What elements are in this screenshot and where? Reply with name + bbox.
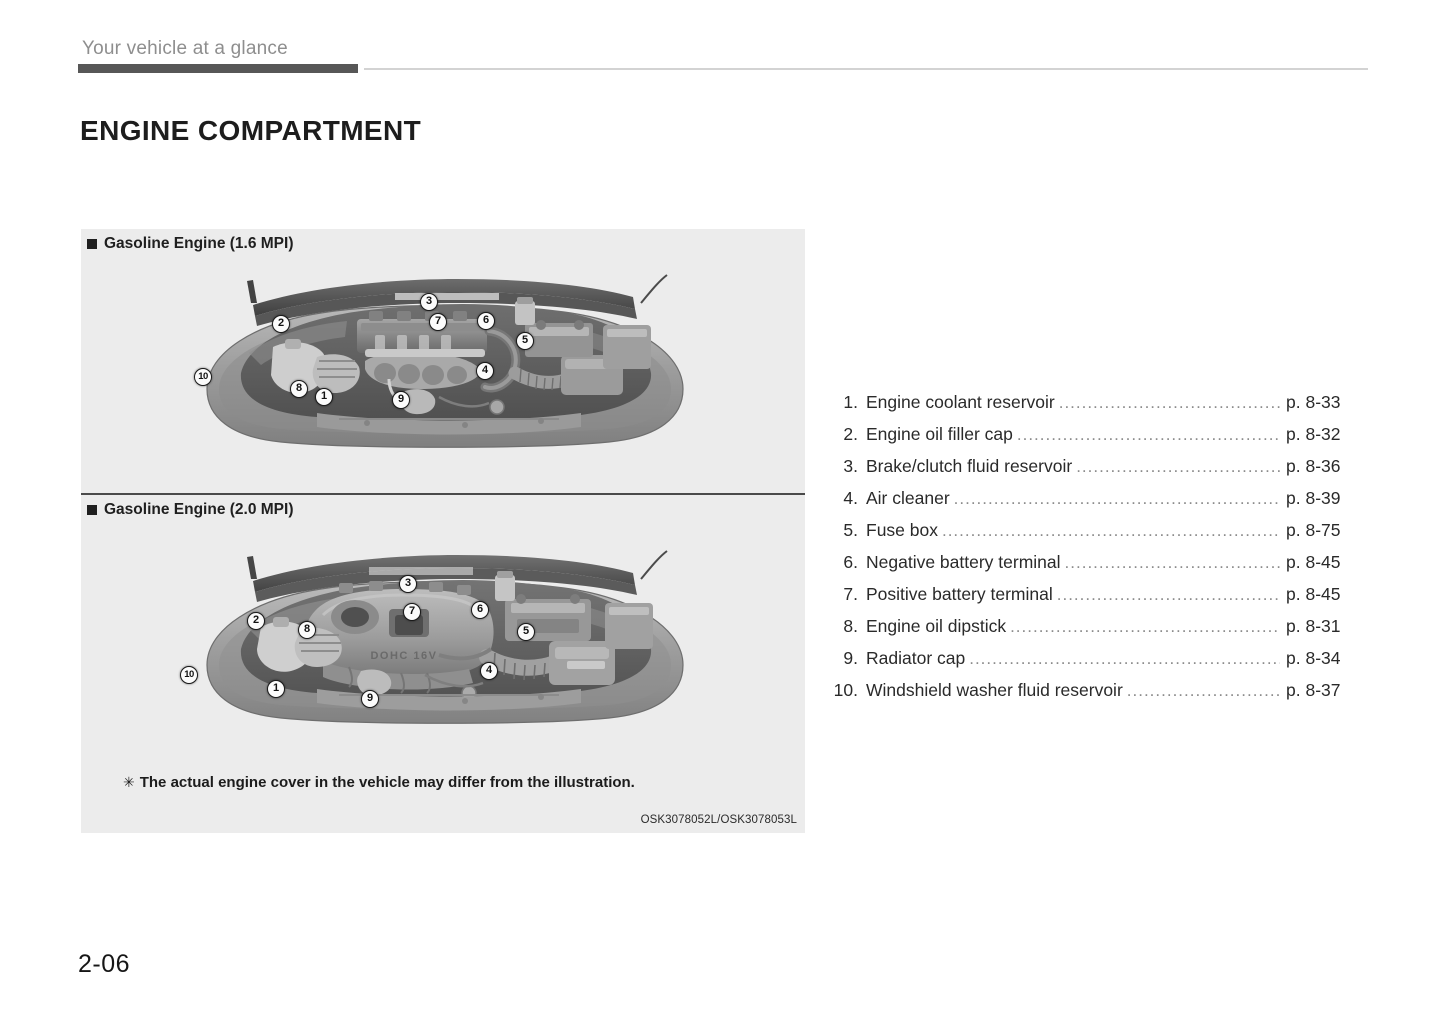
- callout-marker: 1: [267, 680, 285, 698]
- engine-bay-illustration-2-0: DOHC 16V: [189, 537, 699, 727]
- legend-number: 3.: [828, 456, 858, 477]
- engine-bay-illustration-1-6: [189, 261, 699, 451]
- legend-item[interactable]: 6. Negative battery terminal ...........…: [828, 552, 1360, 584]
- dot-leader: ........................................…: [1010, 617, 1280, 637]
- callout-marker: 2: [272, 315, 290, 333]
- page-number: 2-06: [78, 950, 130, 979]
- legend-item[interactable]: 7. Positive battery terminal ...........…: [828, 584, 1360, 616]
- dot-leader: ........................................…: [969, 649, 1280, 669]
- figure-panel: Gasoline Engine (1.6 MPI): [81, 229, 805, 833]
- legend-label: Radiator cap: [858, 648, 965, 669]
- callout-marker: 5: [516, 332, 534, 350]
- callout-marker: 7: [429, 313, 447, 331]
- dot-leader: ........................................…: [1059, 393, 1280, 413]
- legend-list: 1. Engine coolant reservoir ............…: [828, 392, 1360, 712]
- callout-marker: 6: [471, 601, 489, 619]
- dot-leader: ........................................…: [1076, 457, 1280, 477]
- legend-number: 9.: [828, 648, 858, 669]
- legend-item[interactable]: 2. Engine oil filler cap ...............…: [828, 424, 1360, 456]
- dot-leader: ........................................…: [1065, 553, 1280, 573]
- legend-label: Negative battery terminal: [858, 552, 1061, 573]
- callout-marker: 1: [315, 388, 333, 406]
- legend-label: Windshield washer fluid reservoir: [858, 680, 1123, 701]
- legend-item[interactable]: 5. Fuse box ............................…: [828, 520, 1360, 552]
- callout-marker: 5: [517, 623, 535, 641]
- callout-marker: 3: [420, 293, 438, 311]
- callout-marker: 8: [298, 621, 316, 639]
- figure-caption-1-label: Gasoline Engine (1.6 MPI): [104, 235, 293, 253]
- legend-number: 5.: [828, 520, 858, 541]
- legend-item[interactable]: 10. Windshield washer fluid reservoir ..…: [828, 680, 1360, 712]
- legend-label: Engine coolant reservoir: [858, 392, 1055, 413]
- dot-leader: ........................................…: [1017, 425, 1280, 445]
- callout-marker: 4: [476, 362, 494, 380]
- dot-leader: ........................................…: [1057, 585, 1280, 605]
- legend-item[interactable]: 4. Air cleaner .........................…: [828, 488, 1360, 520]
- legend-number: 8.: [828, 616, 858, 637]
- asterisk-icon: ✳: [123, 774, 135, 790]
- chapter-title: Your vehicle at a glance: [82, 38, 288, 60]
- callout-marker: 8: [290, 380, 308, 398]
- engine-cover-badge-text: DOHC 16V: [370, 650, 437, 662]
- figure-reference-code: OSK3078052L/OSK3078053L: [641, 814, 797, 826]
- header-divider-rule: [364, 68, 1368, 70]
- chapter-tab-bar: [78, 64, 358, 73]
- bullet-square-icon: [87, 505, 97, 515]
- legend-label: Positive battery terminal: [858, 584, 1053, 605]
- legend-page-ref: p. 8-34: [1284, 648, 1360, 669]
- figure-caption-2-label: Gasoline Engine (2.0 MPI): [104, 501, 293, 519]
- legend-number: 4.: [828, 488, 858, 509]
- legend-page-ref: p. 8-36: [1284, 456, 1360, 477]
- legend-item[interactable]: 3. Brake/clutch fluid reservoir ........…: [828, 456, 1360, 488]
- legend-page-ref: p. 8-33: [1284, 392, 1360, 413]
- legend-page-ref: p. 8-45: [1284, 584, 1360, 605]
- callout-marker: 4: [480, 662, 498, 680]
- legend-item[interactable]: 8. Engine oil dipstick .................…: [828, 616, 1360, 648]
- figure-footnote: ✳The actual engine cover in the vehicle …: [123, 774, 635, 791]
- dot-leader: ........................................…: [942, 521, 1280, 541]
- figure-block-gasoline-1-6: Gasoline Engine (1.6 MPI): [81, 229, 805, 493]
- legend-number: 6.: [828, 552, 858, 573]
- figure-caption-1: Gasoline Engine (1.6 MPI): [87, 235, 293, 253]
- callout-marker: 10: [194, 368, 212, 386]
- figure-footnote-text: The actual engine cover in the vehicle m…: [140, 774, 635, 791]
- dot-leader: ........................................…: [954, 489, 1280, 509]
- callout-marker: 9: [392, 391, 410, 409]
- legend-page-ref: p. 8-45: [1284, 552, 1360, 573]
- legend-label: Brake/clutch fluid reservoir: [858, 456, 1072, 477]
- legend-page-ref: p. 8-39: [1284, 488, 1360, 509]
- legend-number: 1.: [828, 392, 858, 413]
- callout-marker: 6: [477, 312, 495, 330]
- legend-number: 10.: [828, 680, 858, 701]
- bullet-square-icon: [87, 239, 97, 249]
- legend-item[interactable]: 9. Radiator cap ........................…: [828, 648, 1360, 680]
- legend-page-ref: p. 8-32: [1284, 424, 1360, 445]
- running-header: Your vehicle at a glance: [78, 38, 1368, 72]
- legend-page-ref: p. 8-75: [1284, 520, 1360, 541]
- callout-marker: 9: [361, 690, 379, 708]
- legend-page-ref: p. 8-31: [1284, 616, 1360, 637]
- figure-caption-2: Gasoline Engine (2.0 MPI): [87, 501, 293, 519]
- dot-leader: ........................................…: [1127, 681, 1280, 701]
- legend-label: Engine oil dipstick: [858, 616, 1006, 637]
- legend-page-ref: p. 8-37: [1284, 680, 1360, 701]
- page-title: ENGINE COMPARTMENT: [80, 115, 421, 147]
- callout-marker: 7: [403, 603, 421, 621]
- legend-label: Engine oil filler cap: [858, 424, 1013, 445]
- legend-label: Fuse box: [858, 520, 938, 541]
- callout-marker: 2: [247, 612, 265, 630]
- callout-marker: 3: [399, 575, 417, 593]
- legend-label: Air cleaner: [858, 488, 950, 509]
- legend-number: 2.: [828, 424, 858, 445]
- callout-marker: 10: [180, 666, 198, 684]
- legend-item[interactable]: 1. Engine coolant reservoir ............…: [828, 392, 1360, 424]
- legend-number: 7.: [828, 584, 858, 605]
